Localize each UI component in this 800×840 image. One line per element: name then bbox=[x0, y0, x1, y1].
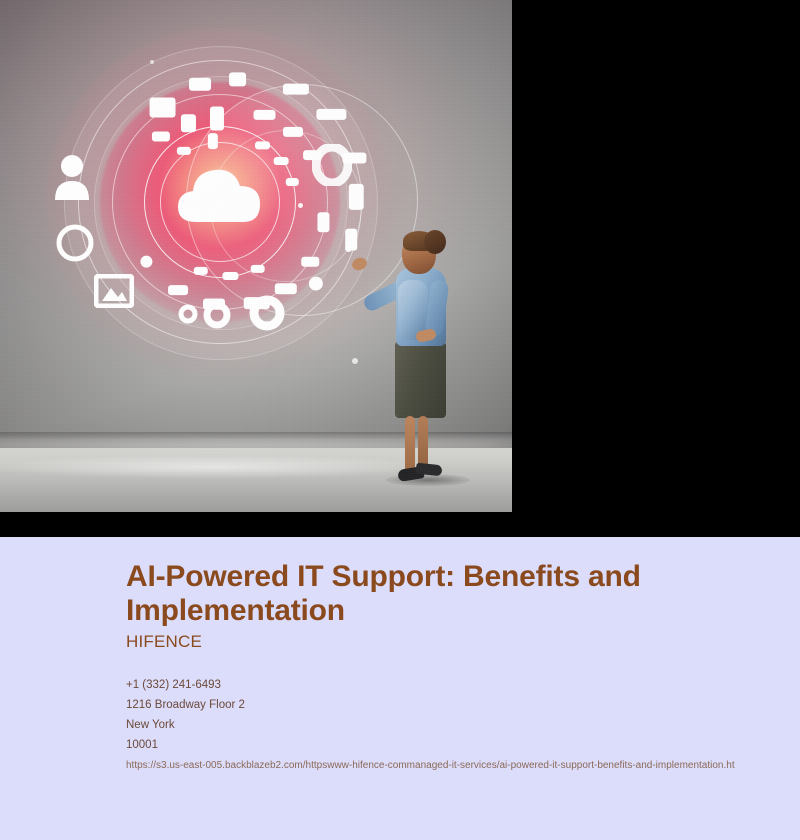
contact-street: 1216 Broadway Floor 2 bbox=[126, 695, 746, 715]
info-panel: AI-Powered IT Support: Benefits and Impl… bbox=[0, 537, 800, 840]
page-root: AI-Powered IT Support: Benefits and Impl… bbox=[0, 0, 800, 840]
photo-grain bbox=[0, 0, 512, 512]
hero-image bbox=[0, 0, 512, 512]
hero-band bbox=[0, 0, 800, 537]
contact-zip: 10001 bbox=[126, 735, 746, 755]
contact-block: +1 (332) 241-6493 1216 Broadway Floor 2 … bbox=[126, 675, 746, 755]
brand-name: HIFENCE bbox=[126, 632, 202, 652]
source-url[interactable]: https://s3.us-east-005.backblazeb2.com/h… bbox=[126, 760, 800, 772]
page-title: AI-Powered IT Support: Benefits and Impl… bbox=[126, 560, 726, 628]
contact-city: New York bbox=[126, 715, 746, 735]
contact-phone: +1 (332) 241-6493 bbox=[126, 675, 746, 695]
